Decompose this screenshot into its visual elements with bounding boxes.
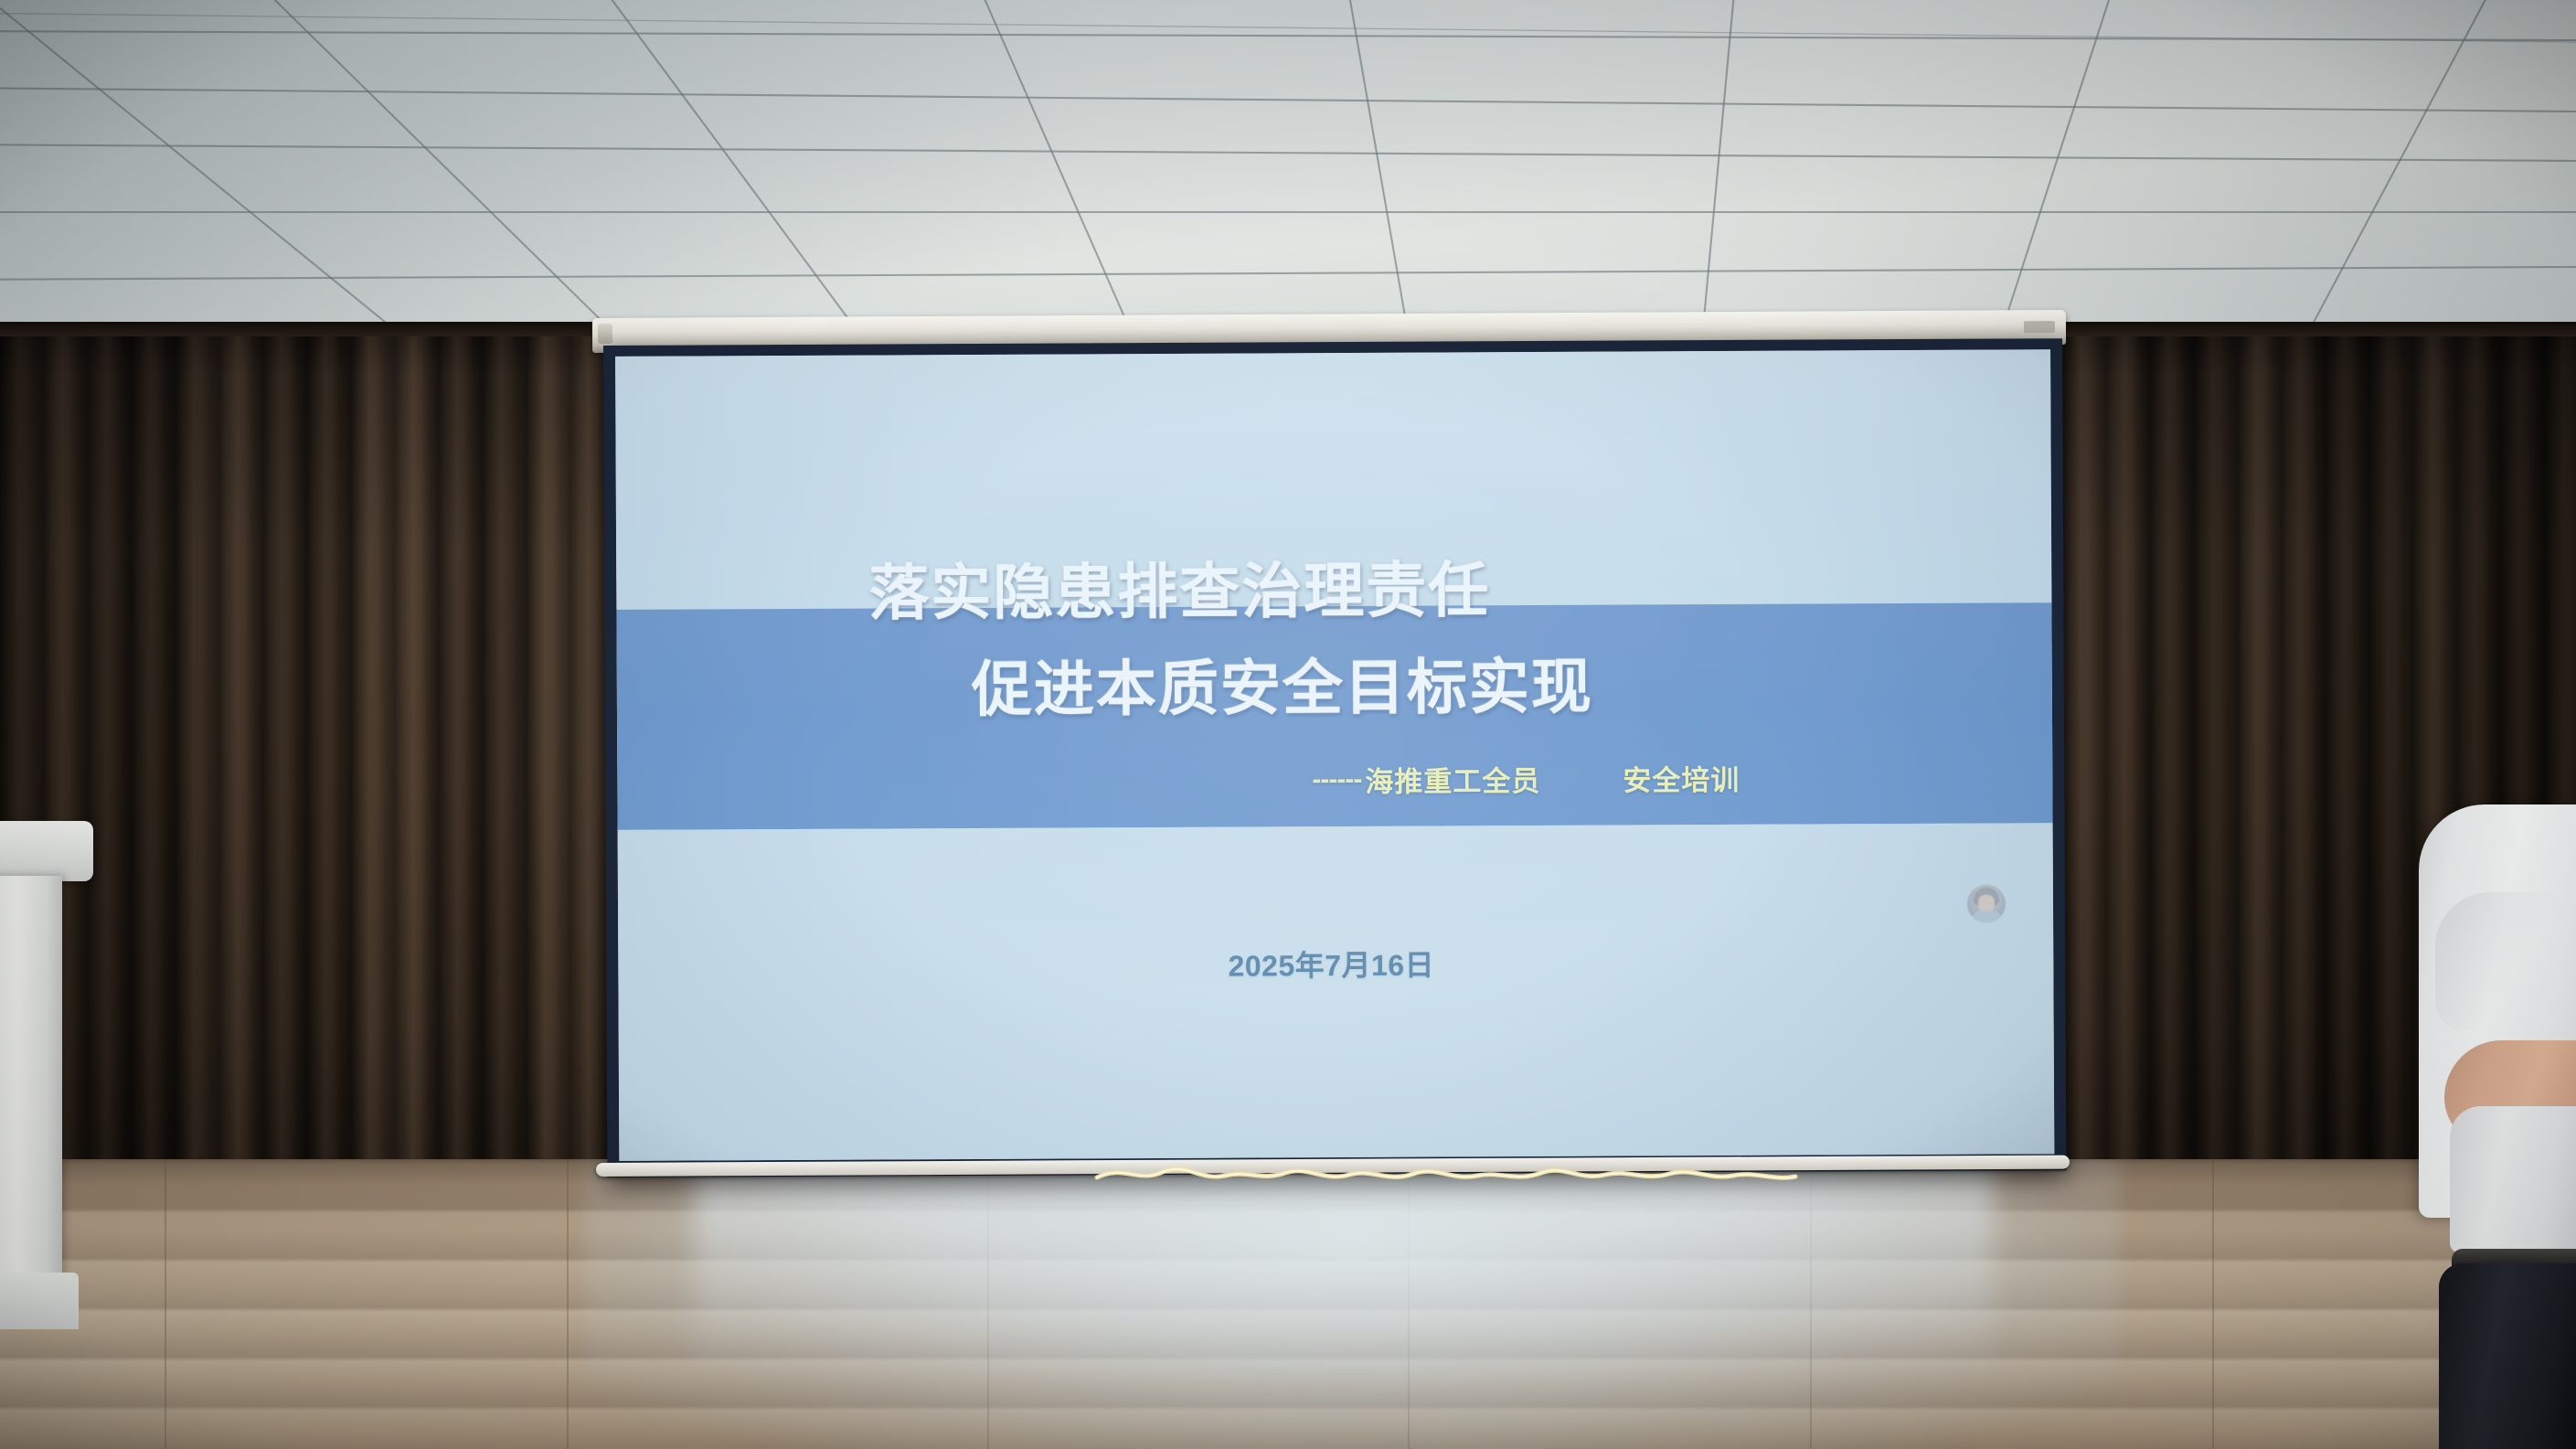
slide-date: 2025年7月16日 — [618, 939, 2053, 988]
housing-right-endcap — [2024, 321, 2055, 333]
avatar-body — [1970, 911, 2003, 923]
slide-title-line-2: 促进本质安全目标实现 — [972, 638, 1593, 729]
presentation-slide[interactable]: 落实隐患排查治理责任 促进本质安全目标实现 ------ 海推重工全员 安全培训… — [615, 349, 2054, 1161]
attendee-shirt-fold — [2435, 892, 2572, 1029]
slide-subtitle-topic: 安全培训 — [1623, 757, 1740, 799]
slide-title-line-1: 落实隐患排查治理责任 — [868, 541, 1490, 632]
slide-subtitle-organization: 海推重工全员 — [1365, 758, 1540, 800]
slide-title-block: 落实隐患排查治理责任 促进本质安全目标实现 ------ 海推重工全员 安全培训… — [615, 349, 2054, 1161]
lectern-top-surface — [0, 821, 93, 881]
lectern-base — [0, 1273, 79, 1329]
slide-subtitle-row: ------ 海推重工全员 安全培训 — [1312, 757, 1740, 800]
projection-screen-frame: 落实隐患排查治理责任 促进本质安全目标实现 ------ 海推重工全员 安全培训… — [603, 338, 2066, 1177]
standing-attendee — [2419, 804, 2576, 1449]
slide-date-text: 2025年7月16日 — [1228, 949, 1434, 983]
attendee-pants — [2439, 1263, 2576, 1449]
white-lectern[interactable] — [0, 821, 93, 1333]
presenter-avatar-icon — [1967, 885, 2006, 923]
room-scene: 落实隐患排查治理责任 促进本质安全目标实现 ------ 海推重工全员 安全培训… — [0, 0, 2576, 1449]
lectern-column — [0, 876, 62, 1278]
attendee-lower-shirt — [2450, 1106, 2576, 1252]
slide-subtitle-dashes: ------ — [1312, 763, 1361, 794]
housing-left-endcap — [598, 324, 612, 344]
ceiling-tile-grid — [0, 0, 2576, 358]
light-wood-plank-floor — [0, 1159, 2576, 1449]
suspended-tile-ceiling — [0, 0, 2576, 358]
floor-projector-spill-core — [695, 1159, 1993, 1379]
